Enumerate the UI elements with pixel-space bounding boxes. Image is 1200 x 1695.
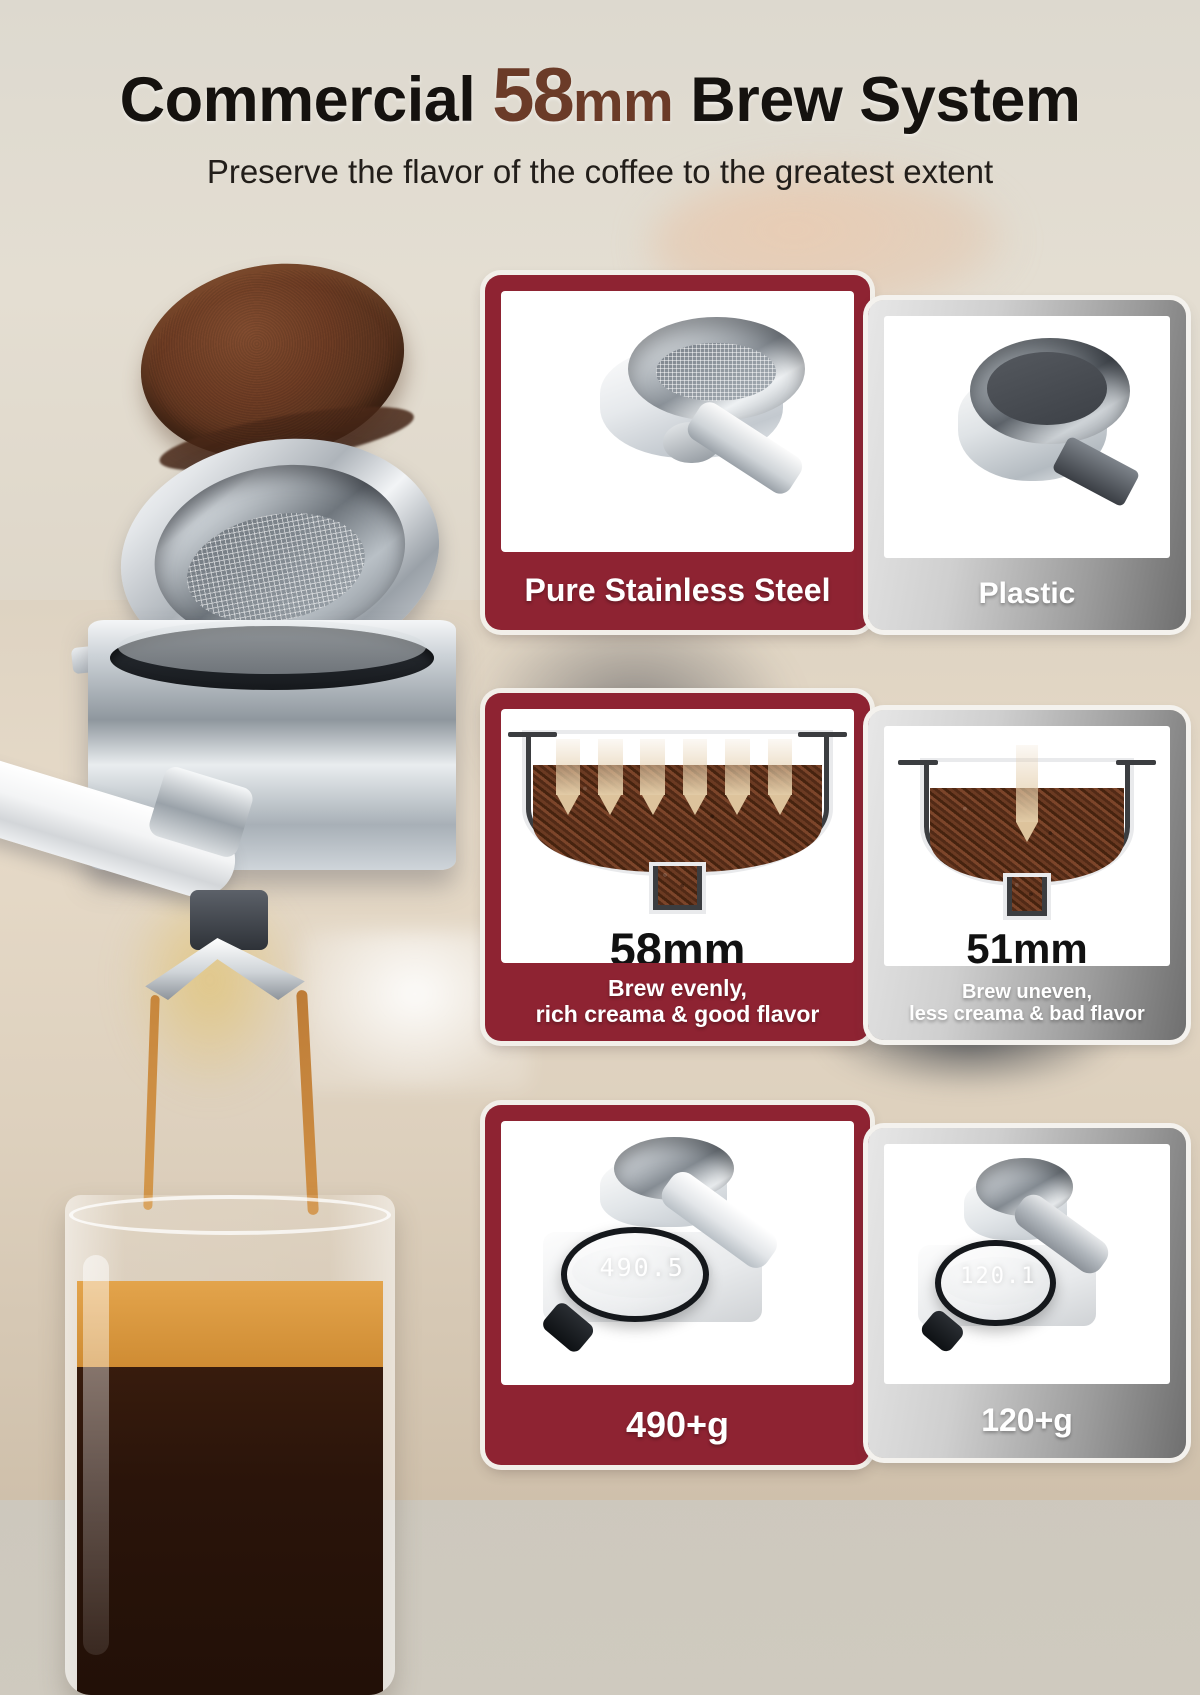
- flow-arrow-2: [598, 739, 623, 795]
- card-plastic[interactable]: Plastic: [868, 300, 1186, 630]
- caption-line-1: Brew uneven,: [962, 981, 1092, 1003]
- flow-arrow-3: [640, 739, 665, 795]
- basin-lip-left-58: [508, 732, 557, 737]
- kitchen-scale-illustration-steel: 490.5: [501, 1121, 854, 1385]
- card-label-plastic: Plastic: [868, 558, 1186, 630]
- card-label-pure-stainless-steel: Pure Stainless Steel: [485, 552, 870, 630]
- stainless-portafilter-on-scale-photo: 490.5: [501, 1121, 854, 1385]
- card-51mm-diagram[interactable]: 51mm Brew uneven, less creama & bad flav…: [868, 710, 1186, 1040]
- card-label-120g: 120+g: [868, 1384, 1186, 1458]
- card-caption-51mm: Brew uneven, less creama & bad flavor: [868, 966, 1186, 1040]
- card-caption-58mm: Brew evenly, rich creama & good flavor: [485, 963, 870, 1041]
- basin-spout-51: [1007, 877, 1047, 915]
- card-pure-stainless-steel[interactable]: Pure Stainless Steel: [485, 275, 870, 630]
- card-label-490g: 490+g: [485, 1385, 870, 1465]
- flow-arrow-6: [768, 739, 793, 795]
- flow-arrow-4: [683, 739, 708, 795]
- portafilter-illustration-plastic: [884, 316, 1170, 558]
- stainless-steel-portafilter-photo: [501, 291, 854, 552]
- card-weight-120g[interactable]: 120.1 120+g: [868, 1128, 1186, 1458]
- caption-line-1: Brew evenly,: [608, 976, 747, 1002]
- caption-line-2: less creama & bad flavor: [909, 1003, 1145, 1025]
- narrow-basket-channeling-diagram: 51mm: [884, 726, 1170, 966]
- plastic-portafilter-photo: [884, 316, 1170, 558]
- portafilter-illustration-steel: [501, 291, 854, 552]
- flow-arrow-5: [725, 739, 750, 795]
- magnifier-icon-steel: [561, 1227, 709, 1322]
- wide-basket-even-extraction-diagram: 58mm: [501, 709, 854, 963]
- diameter-label-58mm: 58mm: [501, 922, 854, 963]
- caption-line-2: rich creama & good flavor: [536, 1002, 820, 1028]
- plastic-portafilter-on-scale-photo: 120.1: [884, 1144, 1170, 1384]
- flow-arrow-1: [556, 739, 581, 795]
- card-weight-490g[interactable]: 490.5 490+g: [485, 1105, 870, 1465]
- basin-spout-58: [653, 866, 702, 909]
- comparison-grid: Pure Stainless Steel Plastic: [0, 0, 1200, 1500]
- basin-lip-right-51: [1116, 760, 1156, 765]
- basin-lip-right-58: [798, 732, 847, 737]
- basin-lip-left-51: [898, 760, 938, 765]
- diagram-51mm: 51mm: [884, 726, 1170, 966]
- card-58mm-diagram[interactable]: 58mm Brew evenly, rich creama & good fla…: [485, 693, 870, 1041]
- plastic-dark-interior: [987, 352, 1107, 425]
- magnifier-icon-plastic: [935, 1240, 1055, 1326]
- flow-arrow-center: [1016, 745, 1039, 822]
- steel-mesh-icon: [656, 343, 776, 400]
- diagram-58mm: 58mm: [501, 709, 854, 963]
- diameter-label-51mm: 51mm: [884, 925, 1170, 966]
- kitchen-scale-illustration-plastic: 120.1: [884, 1144, 1170, 1384]
